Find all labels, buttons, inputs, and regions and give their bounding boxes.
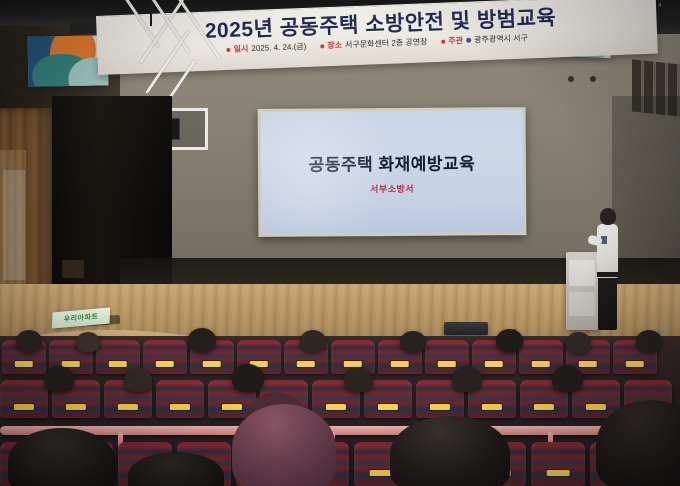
banner-place-value: 서구문화센터 2층 공연장 xyxy=(345,36,428,50)
projection-screen-frame: 공동주택 화재예방교육 서부소방서 xyxy=(258,107,527,237)
banner-date-value: 2025. 4. 24.(금) xyxy=(251,41,306,54)
banner-place-label: 장소 xyxy=(327,40,342,52)
audience-head xyxy=(16,330,42,352)
audience-person-plum xyxy=(232,404,336,486)
host-emblem-icon xyxy=(466,38,471,43)
stage-monitor-speaker xyxy=(62,260,84,278)
banner-host-value: 광주광역시 서구 xyxy=(474,32,528,45)
podium-wheel xyxy=(590,76,596,82)
aisle-railing xyxy=(0,426,680,435)
audience-head xyxy=(496,329,523,352)
auditorium-seat xyxy=(156,380,204,418)
wall-mounted-light-icon xyxy=(70,21,97,34)
bullet-dot-icon xyxy=(441,39,445,43)
presenter-head xyxy=(600,208,616,225)
audience-head xyxy=(232,364,264,392)
audience-person-front-left xyxy=(8,428,116,486)
banner-host-label: 주관 xyxy=(448,35,463,47)
audience-head xyxy=(188,328,216,352)
audience-head xyxy=(452,366,482,392)
audience-head xyxy=(552,365,583,392)
presenter-legs xyxy=(598,276,617,330)
audience-head xyxy=(636,330,662,352)
bullet-dot-icon xyxy=(320,44,324,48)
presenter-torso xyxy=(597,224,618,278)
auditorium-seat xyxy=(0,380,48,418)
audience-person-front-center xyxy=(390,416,510,486)
presenter-belt xyxy=(597,272,618,277)
auditorium-photo: 22 23 24 2025년 공동주택 소방안전 및 방범교육 일시 2025.… xyxy=(0,0,680,486)
audience-head xyxy=(300,330,326,352)
slide-subtitle: 서부소방서 xyxy=(370,181,414,194)
bullet-dot-icon xyxy=(227,47,231,51)
projection-screen: 공동주택 화재예방교육 서부소방서 xyxy=(261,110,524,234)
banner-date-label: 일시 xyxy=(233,43,248,55)
banner-date: 일시 2025. 4. 24.(금) xyxy=(226,41,306,55)
audience-head xyxy=(44,366,74,392)
banner-host: 주관 광주광역시 서구 xyxy=(441,32,528,46)
audience-head xyxy=(566,332,591,353)
auditorium-seat xyxy=(531,442,585,486)
auditorium-seat xyxy=(143,340,187,374)
audience-head xyxy=(400,331,426,352)
presenter-podium-cart xyxy=(566,252,598,330)
audience-head xyxy=(344,367,373,392)
audience-head xyxy=(76,332,100,352)
audience-head xyxy=(124,368,152,392)
stage-equipment-box xyxy=(444,322,488,335)
slide-title: 공동주택 화재예방교육 xyxy=(309,149,476,175)
podium-wheel xyxy=(568,76,574,82)
